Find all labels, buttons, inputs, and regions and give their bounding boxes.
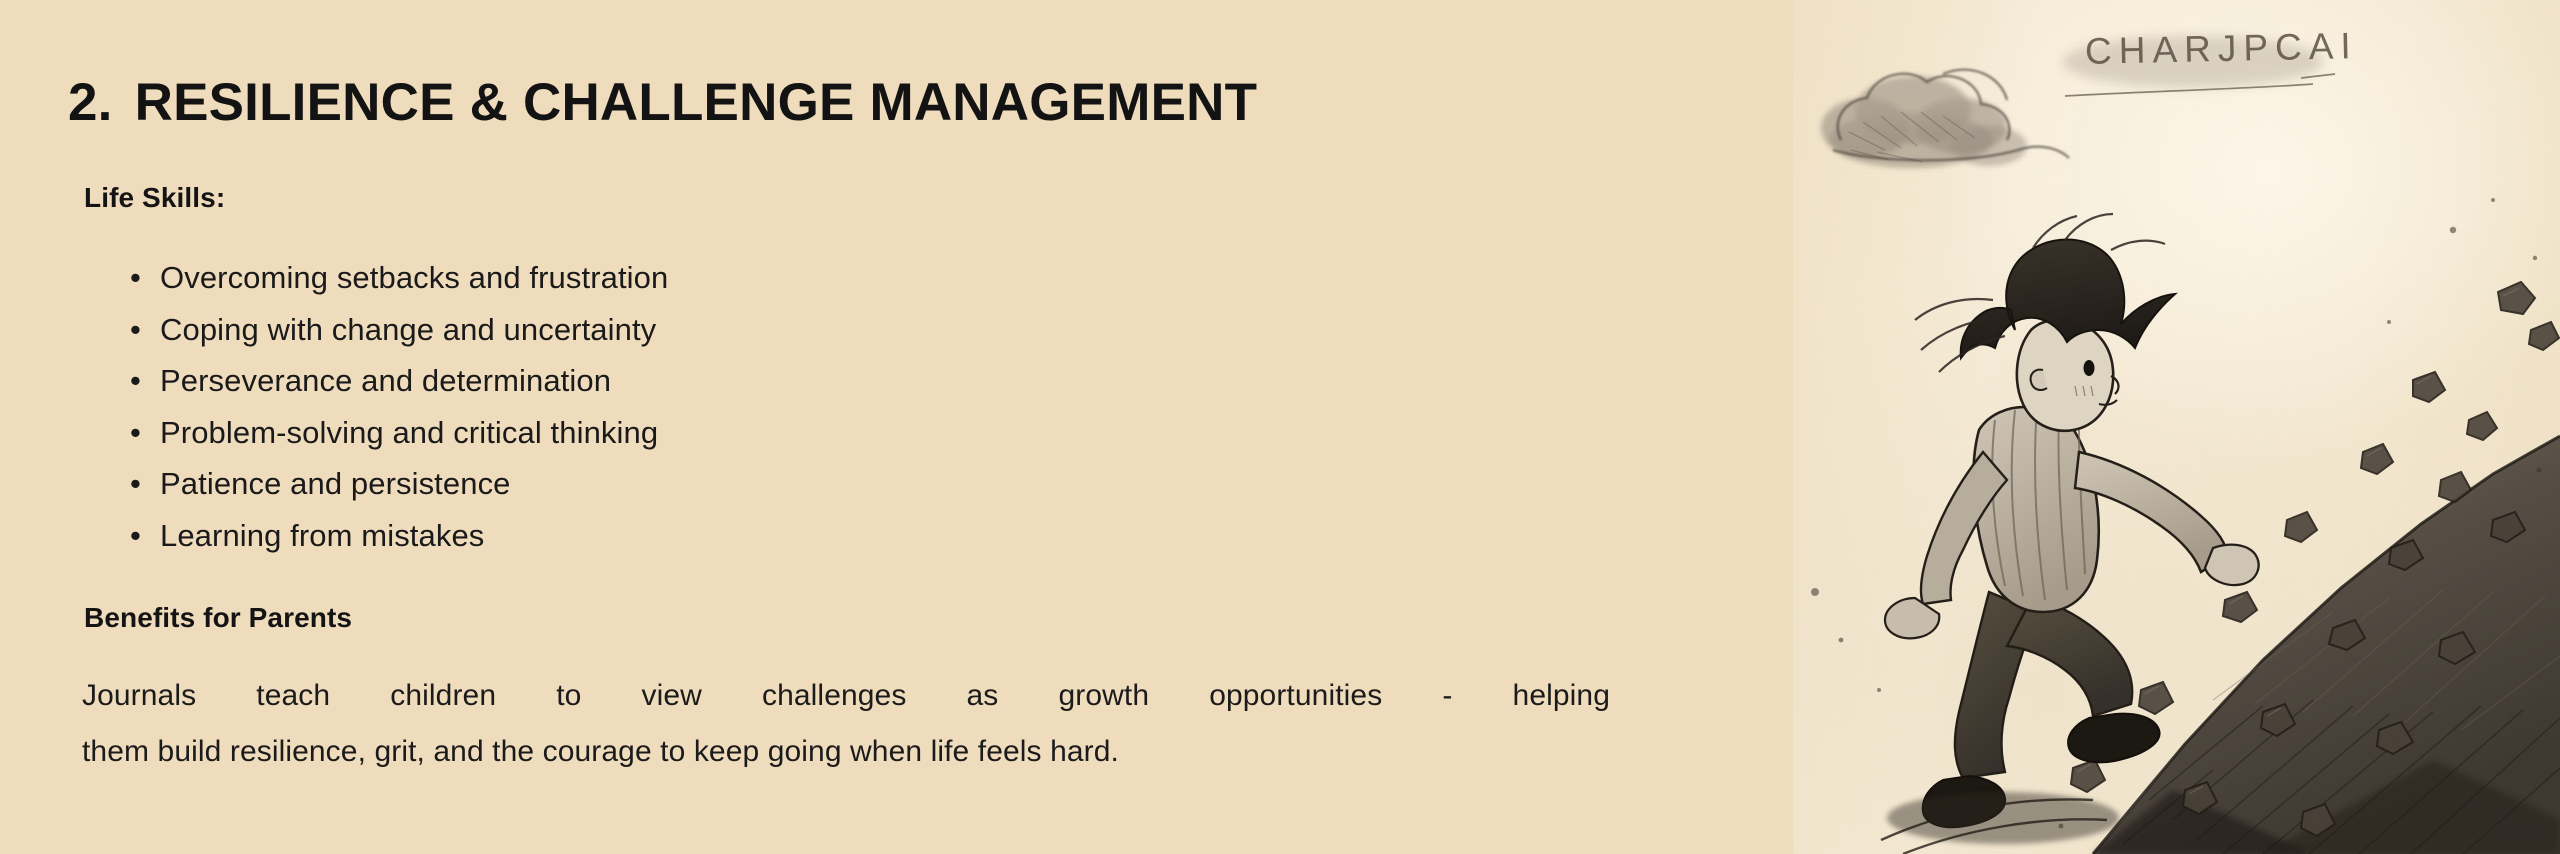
benefits-body: Journals teach children to view challeng…	[82, 668, 1610, 780]
slide-root: 2.RESILIENCE & CHALLENGE MANAGEMENT Life…	[0, 0, 2560, 854]
charcoal-illustration	[1793, 0, 2560, 854]
child-front-hand	[2205, 545, 2259, 585]
list-item: • Problem-solving and critical thinking	[160, 407, 668, 459]
bullet-icon: •	[130, 458, 141, 510]
list-item-label: Overcoming setbacks and frustration	[160, 260, 668, 295]
list-item-label: Problem-solving and critical thinking	[160, 415, 658, 450]
list-item-label: Coping with change and uncertainty	[160, 312, 656, 347]
list-item-label: Perseverance and determination	[160, 363, 611, 398]
page-title: 2.RESILIENCE & CHALLENGE MANAGEMENT	[68, 72, 1257, 133]
list-item-label: Patience and persistence	[160, 466, 511, 501]
list-item: • Overcoming setbacks and frustration	[160, 252, 668, 304]
benefits-body-line-1: Journals teach children to view challeng…	[82, 668, 1610, 724]
text-panel: 2.RESILIENCE & CHALLENGE MANAGEMENT Life…	[0, 0, 1793, 854]
list-item: • Patience and persistence	[160, 458, 668, 510]
benefits-body-line-2: them build resilience, grit, and the cou…	[82, 724, 1610, 780]
list-item-label: Learning from mistakes	[160, 518, 484, 553]
list-item: • Learning from mistakes	[160, 510, 668, 562]
bullet-icon: •	[130, 510, 141, 562]
bullet-icon: •	[130, 407, 141, 459]
child-eye	[2084, 360, 2095, 376]
child-front-leg	[2007, 596, 2132, 716]
child-front-shoe	[2068, 714, 2159, 763]
section-title-text: RESILIENCE & CHALLENGE MANAGEMENT	[135, 73, 1258, 132]
section-number: 2.	[68, 73, 113, 132]
sketch-label: CHARJPCAI	[2085, 25, 2359, 73]
list-item: • Coping with change and uncertainty	[160, 304, 668, 356]
life-skills-heading: Life Skills:	[84, 182, 225, 214]
list-item: • Perseverance and determination	[160, 355, 668, 407]
bullet-icon: •	[130, 252, 141, 304]
bullet-icon: •	[130, 304, 141, 356]
illustration-panel: CHARJPCAI	[1793, 0, 2560, 854]
life-skills-list: • Overcoming setbacks and frustration • …	[108, 252, 668, 561]
bullet-icon: •	[130, 355, 141, 407]
benefits-heading: Benefits for Parents	[84, 602, 352, 634]
